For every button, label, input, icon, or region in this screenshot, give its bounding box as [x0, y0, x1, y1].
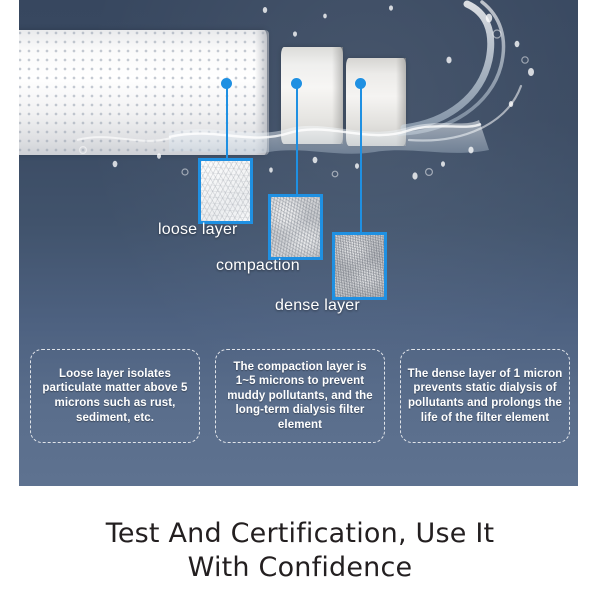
page-canvas: loose layer compaction dense layer Loose…	[0, 0, 600, 600]
page-title: Test And Certification, Use It With Conf…	[0, 517, 600, 585]
info-box-compaction-text: The compaction layer is 1~5 microns to p…	[222, 360, 378, 433]
compaction-layer-swatch[interactable]	[268, 194, 323, 260]
loose-layer-swatch[interactable]	[198, 158, 253, 224]
info-box-dense: The dense layer of 1 micron prevents sta…	[400, 349, 570, 443]
dense-layer-swatch[interactable]	[332, 232, 387, 300]
filter-cartridge-large	[19, 30, 267, 155]
hero-panel: loose layer compaction dense layer Loose…	[19, 0, 578, 486]
info-box-loose: Loose layer isolates particulate matter …	[30, 349, 200, 443]
info-box-dense-text: The dense layer of 1 micron prevents sta…	[407, 367, 563, 425]
loose-layer-texture	[201, 161, 250, 221]
callout-label-dense: dense layer	[275, 297, 360, 315]
filter-cartridge-middle	[281, 47, 343, 144]
dense-layer-texture	[335, 235, 384, 297]
callout-line-compaction	[296, 88, 298, 196]
callout-line-dense	[360, 88, 362, 234]
info-box-compaction: The compaction layer is 1~5 microns to p…	[215, 349, 385, 443]
callout-label-compaction: compaction	[216, 257, 300, 275]
callout-line-loose	[226, 88, 228, 160]
page-title-line2: With Confidence	[0, 551, 600, 585]
compaction-layer-texture	[271, 197, 320, 257]
filter-cartridge-small	[346, 58, 406, 146]
callout-label-loose: loose layer	[158, 221, 238, 239]
info-box-loose-text: Loose layer isolates particulate matter …	[37, 367, 193, 425]
page-title-line1: Test And Certification, Use It	[106, 518, 495, 549]
